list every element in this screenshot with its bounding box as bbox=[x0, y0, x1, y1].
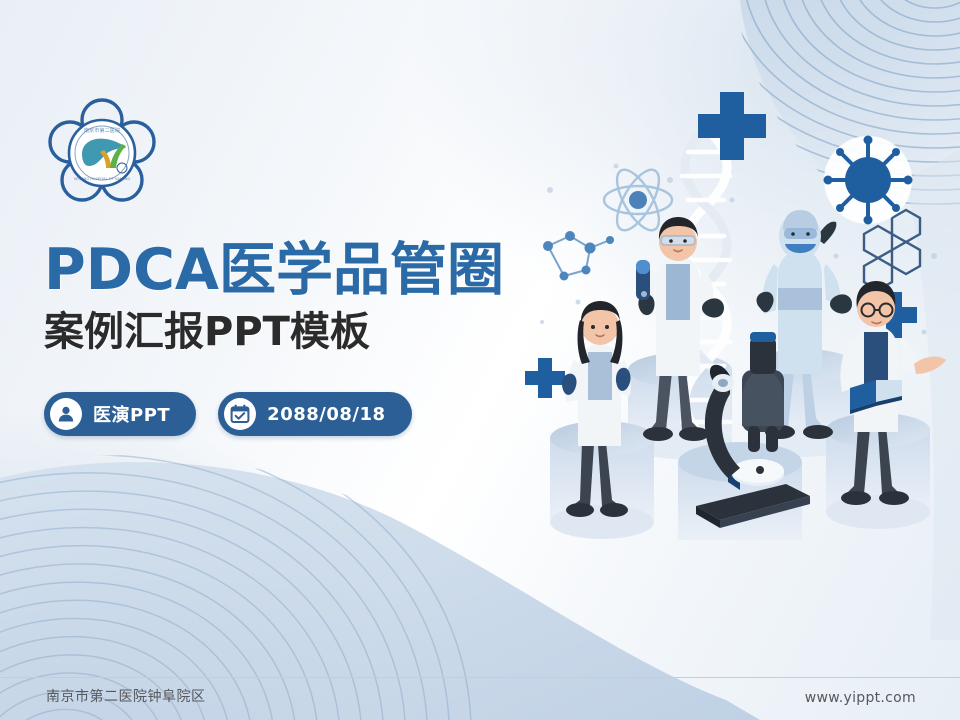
medical-research-team-illustration bbox=[520, 70, 960, 540]
molecule-cluster-left bbox=[548, 236, 610, 276]
plus-cross-small bbox=[525, 358, 565, 398]
page-title: PDCA医学品管圈 bbox=[44, 240, 564, 302]
footer-organization: 南京市第二医院钟阜院区 bbox=[46, 686, 206, 706]
user-icon bbox=[50, 398, 82, 430]
meta-badges: 医演PPT 2088/08/18 bbox=[44, 392, 412, 436]
slide-cover: 南京市第二医院 SECOND HOSPITAL OF NANJING PDCA医… bbox=[0, 0, 960, 720]
badge-author[interactable]: 医演PPT bbox=[44, 392, 196, 436]
page-subtitle: 案例汇报PPT模板 bbox=[44, 310, 564, 354]
atom-icon bbox=[604, 164, 672, 237]
svg-text:南京市第二医院: 南京市第二医院 bbox=[84, 126, 121, 134]
badge-author-label: 医演PPT bbox=[93, 401, 170, 427]
footer-divider bbox=[0, 677, 960, 678]
svg-text:SECOND HOSPITAL OF NANJING: SECOND HOSPITAL OF NANJING bbox=[74, 177, 131, 181]
title-block: PDCA医学品管圈 案例汇报PPT模板 bbox=[44, 240, 564, 354]
badge-date[interactable]: 2088/08/18 bbox=[218, 392, 411, 436]
footer-website[interactable]: www.yippt.com bbox=[805, 690, 916, 706]
badge-date-label: 2088/08/18 bbox=[267, 404, 385, 425]
calendar-check-icon bbox=[224, 398, 256, 430]
hospital-logo: 南京市第二医院 SECOND HOSPITAL OF NANJING bbox=[44, 96, 160, 212]
virus-icon bbox=[824, 136, 913, 225]
